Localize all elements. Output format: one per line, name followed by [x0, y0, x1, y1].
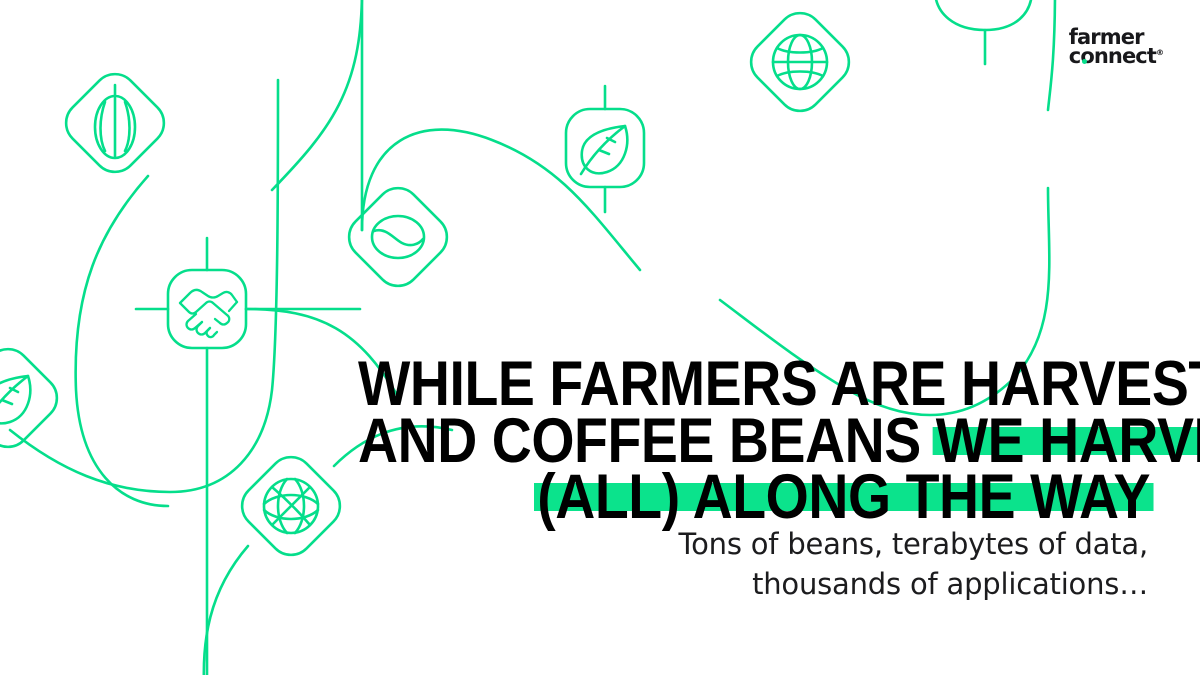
headline-line-3: (ALL) ALONG THE WAY: [358, 470, 1150, 524]
subtitle: Tons of beans, terabytes of data, thousa…: [448, 524, 1148, 604]
node-handshake: [168, 270, 246, 348]
slide-canvas: farmer connect® WHILE FARMERS ARE HARVES…: [0, 0, 1200, 675]
logo-line-connect: connect®: [1069, 47, 1164, 66]
globe-icon: [773, 35, 827, 89]
connector-left-loop: [10, 80, 278, 492]
node-cocoa-pod: [57, 65, 173, 181]
handshake-tile: [168, 270, 246, 348]
connector-globe-bottom-down: [204, 546, 248, 675]
coffee-bean-icon: [372, 216, 424, 258]
handshake-icon: [180, 290, 237, 337]
coffee-bean-tile: [340, 179, 456, 295]
connector-top-curve: [935, 0, 1032, 30]
leaf-left-tile: [0, 340, 66, 456]
headline-line-1: WHILE FARMERS ARE HARVESTING COCOA: [358, 357, 1150, 411]
subtitle-line-1: Tons of beans, terabytes of data,: [448, 524, 1148, 564]
farmer-connect-logo: farmer connect®: [1069, 28, 1164, 67]
connector-top-left: [272, 0, 362, 190]
connector-right-top: [1048, 0, 1055, 110]
logo-trademark-icon: ®: [1156, 48, 1164, 57]
connector-arc-center: [362, 130, 640, 270]
node-globe-top: [742, 4, 858, 120]
globe-tile: [742, 4, 858, 120]
headline-line-2-highlight: WE HARVEST DATA: [936, 414, 1200, 468]
leaf-tile: [566, 109, 644, 187]
node-leaf-top: [566, 109, 644, 187]
node-leaf-left: [0, 340, 66, 456]
leaf-icon: [581, 126, 627, 174]
page-title: WHILE FARMERS ARE HARVESTING COCOA AND C…: [250, 357, 1150, 526]
node-coffee-bean: [340, 179, 456, 295]
cocoa-pod-tile: [57, 65, 173, 181]
connector-cocoa-to-handshake: [76, 176, 168, 506]
headline-line-2: AND COFFEE BEANS WE HARVEST DATA: [358, 414, 1150, 468]
logo-connect-text: connect: [1069, 44, 1156, 68]
subtitle-line-2: thousands of applications…: [448, 564, 1148, 604]
leaf-icon: [0, 376, 30, 424]
headline-line-3-highlight: (ALL) ALONG THE WAY: [537, 470, 1150, 524]
cocoa-pod-icon: [95, 85, 135, 158]
